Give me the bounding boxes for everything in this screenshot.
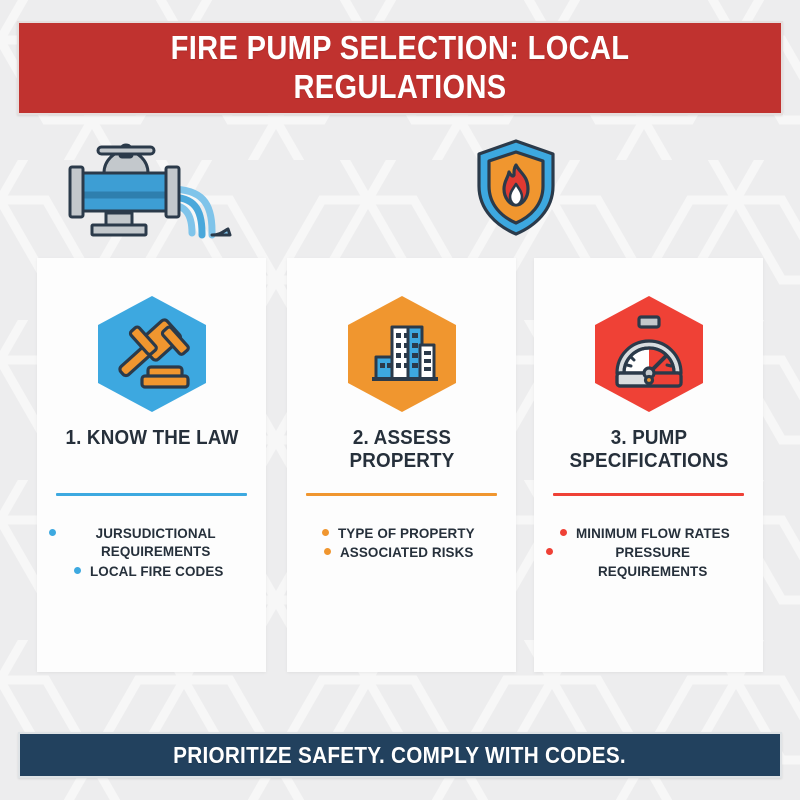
card-divider bbox=[306, 493, 497, 496]
list-item: MINIMUM FLOW RATES bbox=[560, 524, 736, 542]
card-divider bbox=[553, 493, 744, 496]
card-bullet-list: TYPE OF PROPERTY ASSOCIATED RISKS bbox=[287, 524, 516, 563]
list-item-label: ASSOCIATED RISKS bbox=[340, 543, 473, 561]
bullet-dot-icon bbox=[49, 529, 56, 536]
bullet-dot-icon bbox=[322, 529, 329, 536]
card-assess-property[interactable]: 2. ASSESS PROPERTY TYPE OF PROPERTY ASSO… bbox=[287, 258, 516, 672]
top-icon-row bbox=[0, 133, 800, 251]
page-title: FIRE PUMP SELECTION: LOCAL REGULATIONS bbox=[65, 29, 736, 107]
card-title: 3. PUMP SPECIFICATIONS bbox=[550, 427, 747, 491]
pressure-gauge-icon bbox=[593, 295, 705, 413]
list-item: TYPE OF PROPERTY bbox=[322, 524, 480, 542]
list-item: ASSOCIATED RISKS bbox=[324, 543, 479, 561]
header-banner: FIRE PUMP SELECTION: LOCAL REGULATIONS bbox=[17, 21, 783, 115]
footer-text: PRIORITIZE SAFETY. COMPLY WITH CODES. bbox=[174, 742, 627, 769]
bullet-dot-icon bbox=[324, 548, 331, 555]
list-item: PRESSURE REQUIREMENTS bbox=[546, 543, 751, 580]
card-title: 2. ASSESS PROPERTY bbox=[303, 427, 500, 491]
water-pump-icon bbox=[62, 143, 242, 248]
card-pump-specifications[interactable]: 3. PUMP SPECIFICATIONS MINIMUM FLOW RATE… bbox=[534, 258, 763, 672]
card-title: 1. KNOW THE LAW bbox=[53, 427, 250, 491]
cards-row: 1. KNOW THE LAW JURSUDICTIONAL REQUIREME… bbox=[0, 258, 800, 672]
list-item-label: LOCAL FIRE CODES bbox=[90, 562, 223, 580]
list-item: JURSUDICTIONAL REQUIREMENTS bbox=[49, 524, 254, 561]
list-item-label: PRESSURE REQUIREMENTS bbox=[562, 543, 743, 580]
list-item-label: TYPE OF PROPERTY bbox=[338, 524, 475, 542]
bullet-dot-icon bbox=[560, 529, 567, 536]
card-bullet-list: MINIMUM FLOW RATES PRESSURE REQUIREMENTS bbox=[534, 524, 763, 581]
bullet-dot-icon bbox=[546, 548, 553, 555]
bullet-dot-icon bbox=[74, 567, 81, 574]
fire-safety-shield-icon bbox=[473, 137, 559, 244]
list-item-label: JURSUDICTIONAL REQUIREMENTS bbox=[65, 524, 246, 561]
footer-banner: PRIORITIZE SAFETY. COMPLY WITH CODES. bbox=[18, 732, 782, 778]
list-item: LOCAL FIRE CODES bbox=[74, 562, 229, 580]
card-bullet-list: JURSUDICTIONAL REQUIREMENTS LOCAL FIRE C… bbox=[37, 524, 266, 581]
card-divider bbox=[56, 493, 247, 496]
card-know-the-law[interactable]: 1. KNOW THE LAW JURSUDICTIONAL REQUIREME… bbox=[37, 258, 266, 672]
list-item-label: MINIMUM FLOW RATES bbox=[576, 524, 730, 542]
office-building-icon bbox=[346, 295, 458, 413]
gavel-icon bbox=[96, 295, 208, 413]
